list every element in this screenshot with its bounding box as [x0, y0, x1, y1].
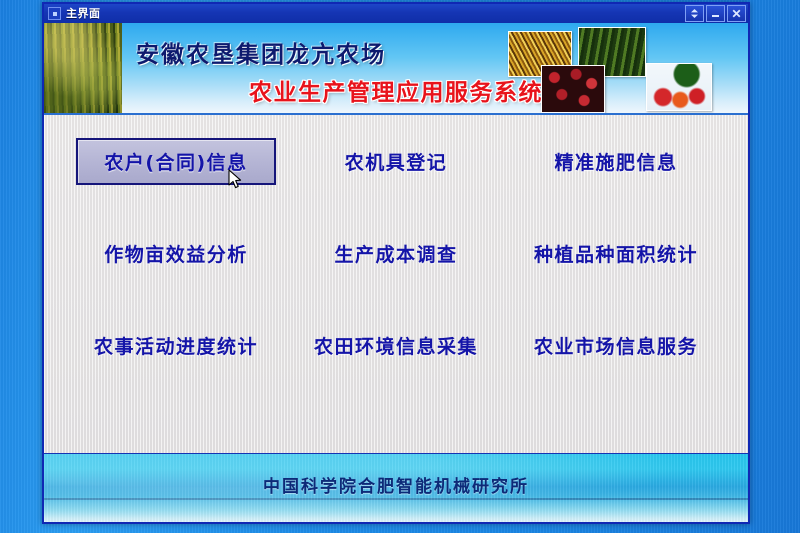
main-content-area: 农户(合同)信息 农机具登记 精准施肥信息 作物亩效益分析 生产成本调查 种植品… [44, 115, 748, 453]
menu-production-cost-survey[interactable]: 生产成本调查 [315, 230, 476, 277]
menu-agricultural-market-info-service[interactable]: 农业市场信息服务 [515, 322, 717, 369]
menu-grid: 农户(合同)信息 农机具登记 精准施肥信息 作物亩效益分析 生产成本调查 种植品… [44, 137, 748, 369]
window-title-bar[interactable]: 主界面 [44, 4, 748, 23]
minimize-icon [710, 8, 721, 19]
footer-banner: 中国科学院合肥智能机械研究所 [44, 453, 748, 522]
menu-cell: 农业市场信息服务 [506, 321, 726, 369]
banner-title: 安徽农垦集团龙亢农场 [136, 35, 386, 69]
menu-crop-yield-benefit-analysis[interactable]: 作物亩效益分析 [85, 230, 267, 277]
menu-cell: 农机具登记 [286, 137, 506, 185]
rice-field-photo [44, 23, 122, 113]
window-title: 主界面 [66, 8, 101, 20]
banner-subtitle: 农业生产管理应用服务系统 [249, 73, 543, 107]
menu-cell: 农户(合同)信息 [66, 137, 286, 185]
menu-precision-fertilization-info[interactable]: 精准施肥信息 [535, 138, 696, 185]
menu-cell: 农田环境信息采集 [286, 321, 506, 369]
menu-cell: 种植品种面积统计 [506, 229, 726, 277]
footer-institute-name: 中国科学院合肥智能机械研究所 [44, 472, 748, 497]
menu-cell: 作物亩效益分析 [66, 229, 286, 277]
vegetables-thumbnail [646, 63, 712, 111]
close-icon [731, 8, 742, 19]
menu-cell: 生产成本调查 [286, 229, 506, 277]
menu-machinery-registration[interactable]: 农机具登记 [326, 138, 467, 185]
minimize-button[interactable] [706, 5, 725, 22]
berries-thumbnail [541, 65, 605, 113]
window-box-icon [48, 7, 61, 20]
header-banner: 安徽农垦集团龙亢农场 农业生产管理应用服务系统 [44, 23, 748, 115]
menu-farmer-contract-info[interactable]: 农户(合同)信息 [76, 138, 275, 185]
restore-spinner-button[interactable] [685, 5, 704, 22]
up-down-arrows-icon [690, 8, 699, 19]
close-button[interactable] [727, 5, 746, 22]
application-window: 主界面 安徽农垦集团龙亢农场 [42, 2, 750, 524]
menu-farmland-environment-data-collection[interactable]: 农田环境信息采集 [295, 322, 497, 369]
desktop-background: 主界面 安徽农垦集团龙亢农场 [0, 0, 800, 533]
menu-cell: 农事活动进度统计 [66, 321, 286, 369]
menu-planting-variety-area-statistics[interactable]: 种植品种面积统计 [515, 230, 717, 277]
menu-cell: 精准施肥信息 [506, 137, 726, 185]
menu-farming-activity-progress-statistics[interactable]: 农事活动进度统计 [75, 322, 277, 369]
